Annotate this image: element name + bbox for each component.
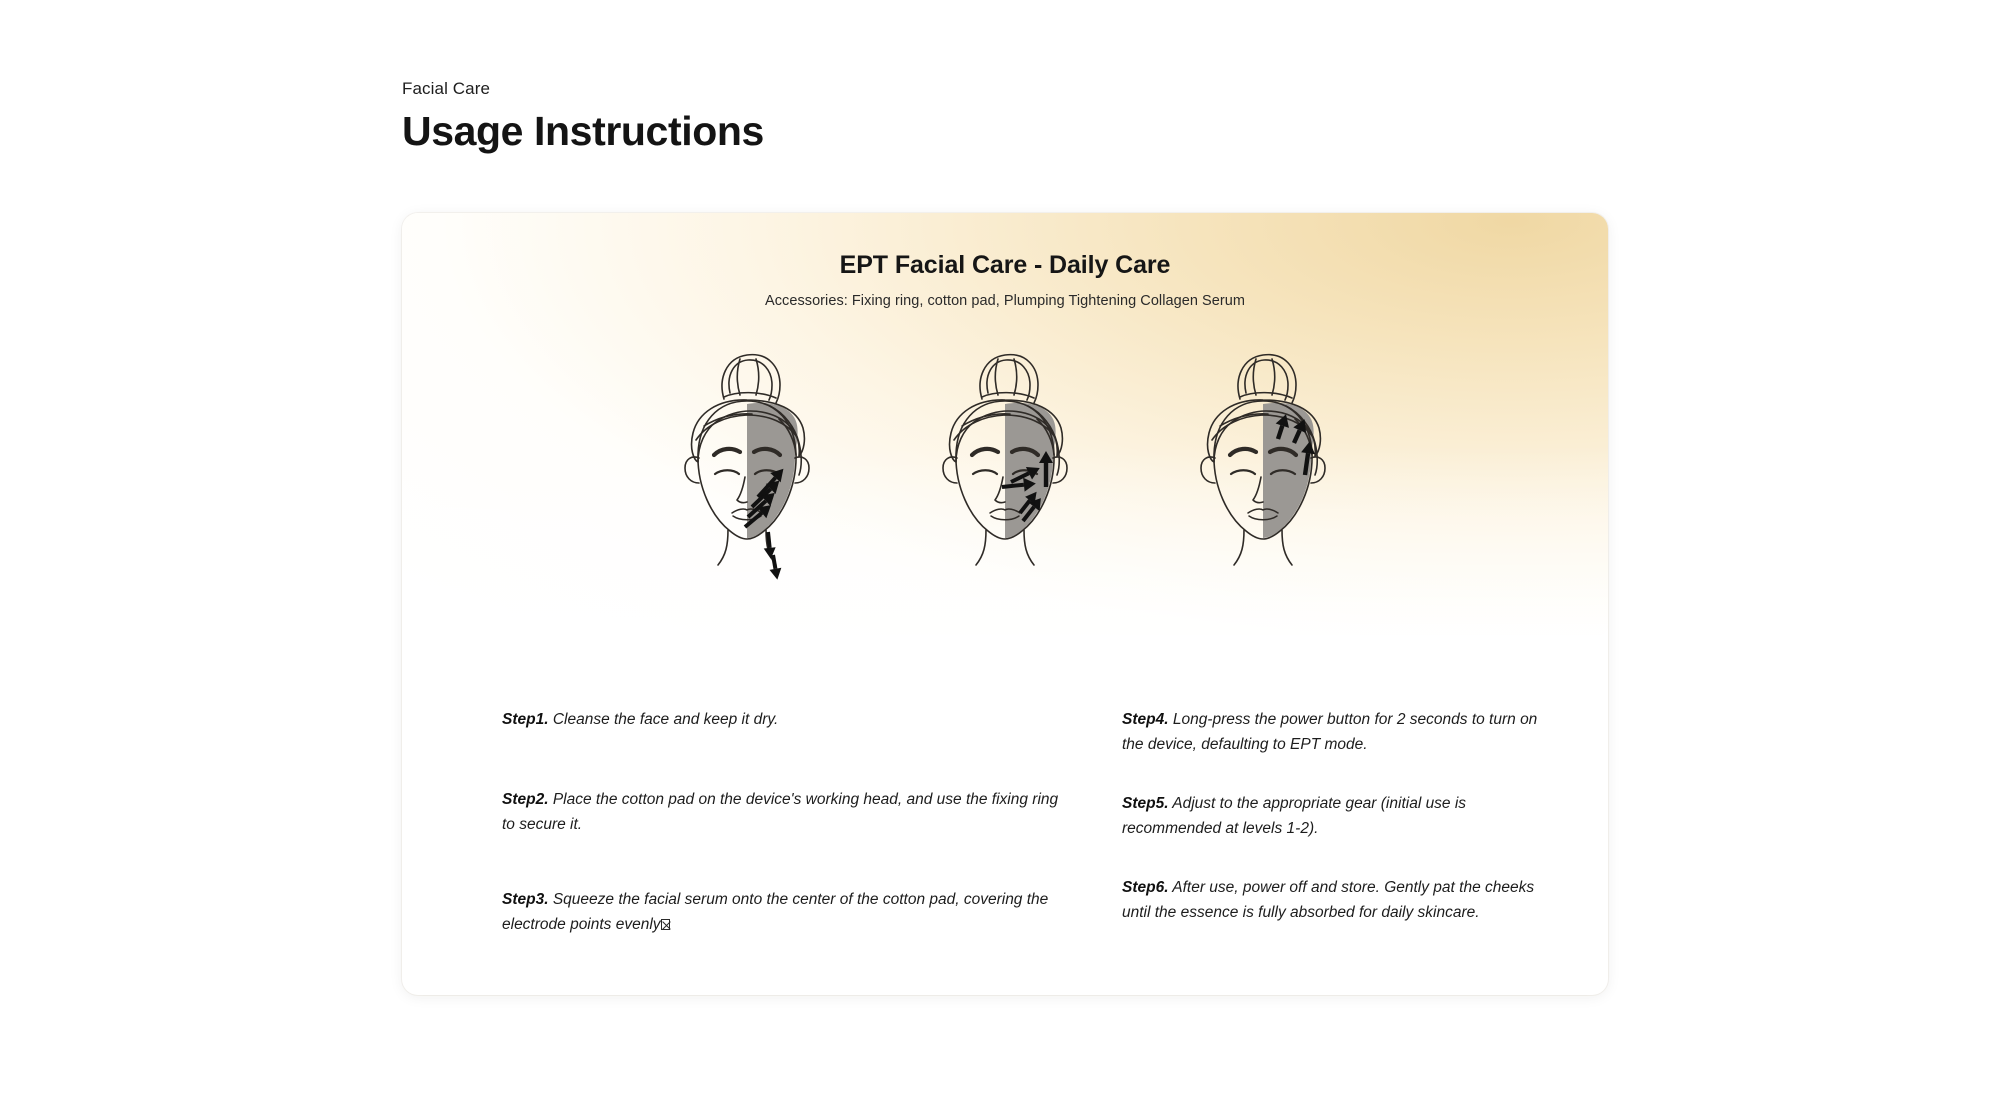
step-item: Step4. Long-press the power button for 2…: [1122, 707, 1548, 757]
under-eye-massage-diagram: [910, 327, 1100, 589]
usage-instructions-card: EPT Facial Care - Daily Care Accessories…: [402, 213, 1608, 995]
step-text: Adjust to the appropriate gear (initial …: [1122, 795, 1466, 837]
step-item: Step2. Place the cotton pad on the devic…: [502, 787, 1067, 837]
page-title: Usage Instructions: [402, 106, 764, 156]
step-label: Step1.: [502, 711, 549, 728]
step-item: Step5. Adjust to the appropriate gear (i…: [1122, 791, 1548, 841]
step-label: Step6.: [1122, 879, 1169, 896]
step-text: Cleanse the face and keep it dry.: [553, 711, 778, 728]
massage-diagram-group: [402, 327, 1608, 589]
breadcrumb-category: Facial Care: [402, 78, 764, 100]
steps-section: Step1. Cleanse the face and keep it dry.…: [402, 635, 1608, 937]
steps-column-right: Step4. Long-press the power button for 2…: [1122, 707, 1548, 937]
step-item: Step6. After use, power off and store. G…: [1122, 875, 1548, 925]
hero-accessories-subtitle: Accessories: Fixing ring, cotton pad, Pl…: [402, 291, 1608, 311]
forehead-massage-diagram: [1168, 327, 1358, 589]
hero-illustration-banner: EPT Facial Care - Daily Care Accessories…: [402, 213, 1608, 635]
step-label: Step4.: [1122, 711, 1169, 728]
step-text: Squeeze the facial serum onto the center…: [502, 891, 1048, 933]
steps-column-left: Step1. Cleanse the face and keep it dry.…: [502, 707, 1067, 937]
missing-glyph-box-icon: [661, 919, 670, 930]
step-label: Step3.: [502, 891, 549, 908]
page-header: Facial Care Usage Instructions: [402, 78, 764, 156]
step-label: Step2.: [502, 791, 549, 808]
step-item: Step1. Cleanse the face and keep it dry.: [502, 707, 1067, 732]
step-item: Step3. Squeeze the facial serum onto the…: [502, 887, 1067, 937]
page-root: Facial Care Usage Instructions EPT Facia…: [0, 0, 2000, 1099]
step-text: Place the cotton pad on the device's wor…: [502, 791, 1058, 833]
hero-title: EPT Facial Care - Daily Care: [402, 213, 1608, 281]
step-text: After use, power off and store. Gently p…: [1122, 879, 1534, 921]
step-text: Long-press the power button for 2 second…: [1122, 711, 1537, 753]
cheek-jawline-massage-diagram: [652, 327, 842, 589]
step-label: Step5.: [1122, 795, 1169, 812]
